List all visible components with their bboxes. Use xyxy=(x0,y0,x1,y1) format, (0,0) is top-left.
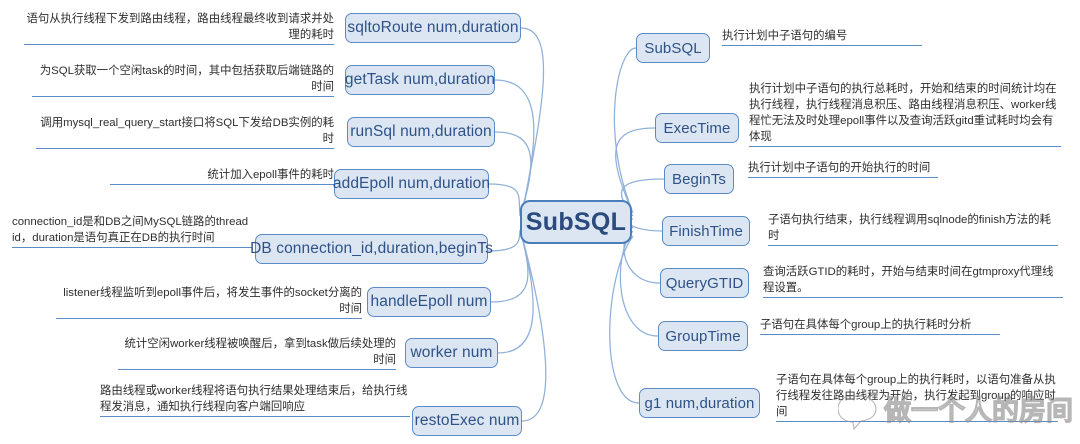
node-handleepoll[interactable]: handleEpoll num xyxy=(367,287,491,317)
node-grouptime[interactable]: GroupTime xyxy=(658,321,748,351)
desc-querygtid: 查询活跃GTID的耗时，开始与结束时间在gtmproxy代理线程设置。 xyxy=(763,264,1063,298)
desc-runsql: 调用mysql_real_query_start接口将SQL下发给DB实例的耗时 xyxy=(36,115,334,149)
desc-finishtime: 子语句执行结束，执行线程调用sqlnode的finish方法的耗时 xyxy=(768,212,1058,246)
desc-gettask: 为SQL获取一个空闲task的时间，其中包括获取后端链路的时间 xyxy=(32,63,334,97)
node-addepoll[interactable]: addEpoll num,duration xyxy=(334,169,489,199)
node-g1-label: g1 num,duration xyxy=(645,395,755,412)
desc-begints: 执行计划中子语句的开始执行的时间 xyxy=(748,160,938,178)
node-subsql-right[interactable]: SubSQL xyxy=(636,33,710,63)
node-db-label: DB connection_id,duration,beginTs xyxy=(250,240,493,258)
node-sqltoroute-label: sqltoRoute num,duration xyxy=(347,19,518,37)
node-restoexec[interactable]: restoExec num xyxy=(412,406,522,436)
center-node-label: SubSQL xyxy=(526,208,626,237)
node-finishtime-label: FinishTime xyxy=(669,223,743,240)
desc-addepoll: 统计加入epoll事件的耗时 xyxy=(110,167,334,185)
node-runsql[interactable]: runSql num,duration xyxy=(347,117,495,147)
node-grouptime-label: GroupTime xyxy=(665,328,740,345)
node-g1[interactable]: g1 num,duration xyxy=(639,388,760,418)
desc-db: connection_id是和DB之间MySQL链路的thread id，dur… xyxy=(12,214,252,248)
desc-sqltoroute: 语句从执行线程下发到路由线程，路由线程最终收到请求并处理的耗时 xyxy=(24,11,334,45)
node-subsql-right-label: SubSQL xyxy=(644,40,701,57)
desc-grouptime: 子语句在具体每个group上的执行耗时分析 xyxy=(760,317,1000,335)
node-addepoll-label: addEpoll num,duration xyxy=(333,175,490,193)
node-worker[interactable]: worker num xyxy=(405,338,498,368)
node-restoexec-label: restoExec num xyxy=(415,412,520,430)
node-db[interactable]: DB connection_id,duration,beginTs xyxy=(255,234,488,264)
node-begints[interactable]: BeginTs xyxy=(664,164,734,194)
desc-exectime: 执行计划中子语句的执行总耗时，开始和结束的时间统计均在执行线程，执行线程消息积压… xyxy=(749,81,1061,147)
desc-restoexec: 路由线程或worker线程将语句执行结果处理结束后，给执行线程发消息，通知执行线… xyxy=(100,383,410,417)
node-worker-label: worker num xyxy=(411,344,493,362)
node-gettask[interactable]: getTask num,duration xyxy=(345,65,495,95)
node-exectime[interactable]: ExecTime xyxy=(655,113,739,143)
node-exectime-label: ExecTime xyxy=(664,120,731,137)
center-node-subsql[interactable]: SubSQL xyxy=(520,200,632,244)
node-querygtid[interactable]: QueryGTID xyxy=(660,268,749,298)
node-finishtime[interactable]: FinishTime xyxy=(662,216,750,246)
node-begints-label: BeginTs xyxy=(672,171,726,188)
desc-g1: 子语句在具体每个group上的执行耗时，以语句准备从执行线程发往路由线程为开始，… xyxy=(776,372,1058,422)
mindmap-canvas: SubSQL 语句从执行线程下发到路由线程，路由线程最终收到请求并处理的耗时 s… xyxy=(0,0,1080,444)
node-querygtid-label: QueryGTID xyxy=(666,275,744,292)
node-sqltoroute[interactable]: sqltoRoute num,duration xyxy=(345,13,521,43)
desc-handleepoll: listener线程监听到epoll事件后，将发生事件的socket分离的时间 xyxy=(56,285,362,319)
desc-subsql-right: 执行计划中子语句的编号 xyxy=(722,28,922,46)
node-handleepoll-label: handleEpoll num xyxy=(371,293,488,311)
node-gettask-label: getTask num,duration xyxy=(345,71,495,89)
desc-worker: 统计空闲worker线程被唤醒后，拿到task做后续处理的时间 xyxy=(118,336,396,370)
node-runsql-label: runSql num,duration xyxy=(350,123,491,141)
